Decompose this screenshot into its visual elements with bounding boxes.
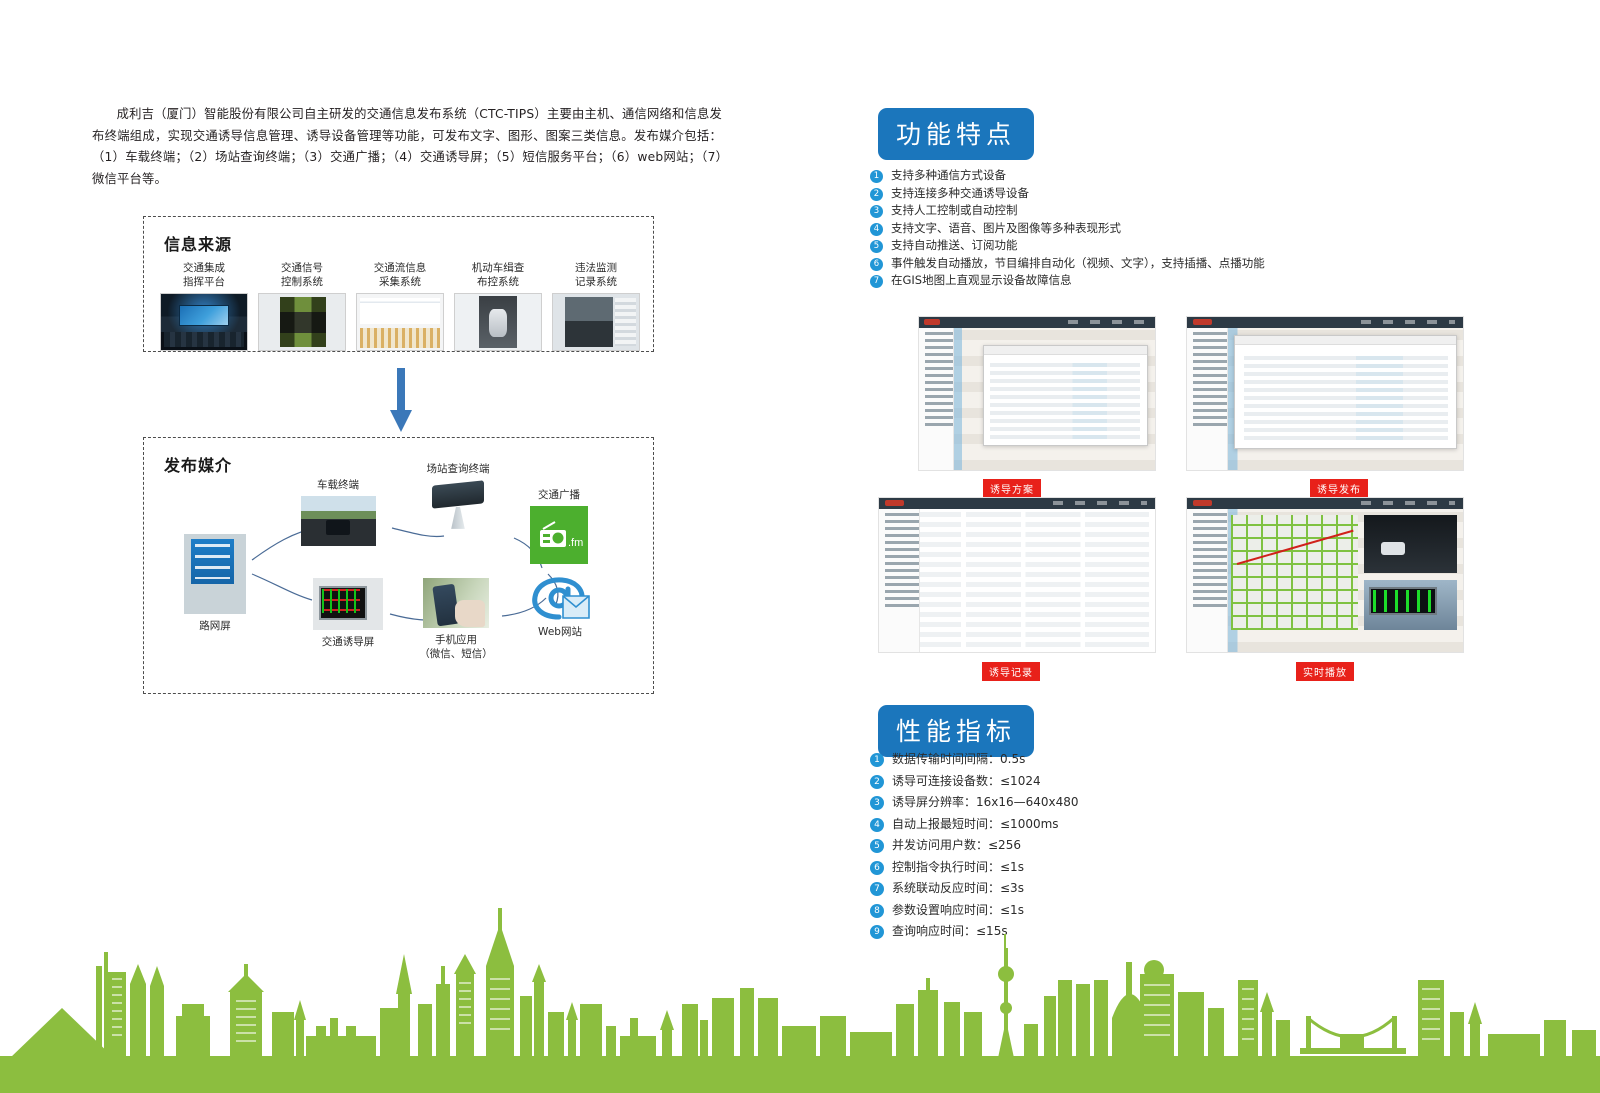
performance-item: 1 数据传输时间间隔：0.5s — [870, 751, 1290, 767]
guidance-plan-dialog[interactable] — [983, 345, 1148, 446]
vehicle-check-thumb — [454, 293, 542, 351]
live-video-feed — [1364, 515, 1458, 574]
intro-paragraph: 成利吉（厦门）智能股份有限公司自主研发的交通信息发布系统（CTC-TIPS）主要… — [92, 104, 722, 190]
violation-record-thumb — [552, 293, 640, 351]
media-node-traffic-radio: 交通广播 .fm — [512, 488, 606, 564]
screenshot-body — [879, 498, 1155, 652]
information-source-panel: 信息来源 交通集成 指挥平台 交通信号 控制系统 交通流信息 采集系统 机动车缉… — [143, 216, 654, 352]
bullet-1: 1 — [870, 170, 883, 183]
dialog-rows — [1244, 356, 1448, 441]
media-label: 车载终端 — [284, 478, 392, 492]
performance-text: 并发访问用户数：≤256 — [892, 837, 1021, 853]
media-node-road-network-screen: 路网屏 — [176, 534, 254, 633]
features-badge-label: 功能特点 — [878, 108, 1034, 160]
tree-panel — [1187, 328, 1228, 470]
city-skyline-illustration — [0, 908, 1600, 1093]
road-network-screen-image — [184, 534, 246, 614]
road-grid-map — [1231, 515, 1358, 631]
performance-text: 诱导可连接设备数：≤1024 — [892, 773, 1041, 789]
feature-item: 1 支持多种通信方式设备 — [870, 168, 1330, 183]
media-label: 路网屏 — [176, 619, 254, 633]
bullet-6: 6 — [870, 861, 884, 875]
bullet-4: 4 — [870, 223, 883, 236]
feature-item: 3 支持人工控制或自动控制 — [870, 203, 1330, 218]
performance-text: 数据传输时间间隔：0.5s — [892, 751, 1025, 767]
bullet-2: 2 — [870, 188, 883, 201]
performance-badge-label: 性能指标 — [878, 705, 1034, 757]
performance-text: 自动上报最短时间：≤1000ms — [892, 816, 1059, 832]
feature-item: 2 支持连接多种交通诱导设备 — [870, 186, 1330, 201]
performance-text: 系统联动反应时间：≤3s — [892, 880, 1024, 896]
screenshot-guidance-publish[interactable] — [1186, 316, 1464, 471]
bullet-5: 5 — [870, 839, 884, 853]
svg-text:.fm: .fm — [568, 537, 583, 549]
performance-text: 控制指令执行时间：≤1s — [892, 859, 1024, 875]
tree-panel — [1187, 509, 1228, 652]
bullet-3: 3 — [870, 205, 883, 218]
radio-fm-image: .fm — [530, 506, 588, 564]
screenshot-caption-3: 诱导记录 — [982, 662, 1040, 681]
bullet-2: 2 — [870, 775, 884, 789]
dialog-title-bar — [984, 346, 1147, 355]
screenshot-body — [1187, 317, 1463, 470]
media-label: 交通广播 — [512, 488, 606, 502]
bullet-7: 7 — [870, 882, 884, 896]
feature-item: 7 在GIS地图上直观显示设备故障信息 — [870, 273, 1330, 288]
source-item-vehicle-check: 机动车缉查 布控系统 — [452, 261, 544, 351]
feature-text: 支持连接多种交通诱导设备 — [891, 186, 1029, 201]
media-label: Web网站 — [512, 625, 608, 639]
at-mail-icon — [529, 576, 591, 622]
bullet-5: 5 — [870, 240, 883, 253]
feature-text: 支持人工控制或自动控制 — [891, 203, 1018, 218]
media-label: 交通诱导屏 — [296, 635, 400, 649]
feature-text: 支持自动推送、订阅功能 — [891, 238, 1018, 253]
guidance-screen-image — [313, 578, 383, 630]
guidance-board-photo — [1364, 580, 1458, 631]
screenshot-realtime-playback[interactable] — [1186, 497, 1464, 653]
media-node-mobile-app: 手机应用 （微信、短信） — [406, 578, 506, 661]
source-item-traffic-command: 交通集成 指挥平台 — [158, 261, 250, 351]
media-node-station-kiosk: 场站查询终端 — [400, 462, 516, 532]
source-item-violation-record: 违法监测 记录系统 — [550, 261, 642, 351]
media-label: 手机应用 （微信、短信） — [406, 633, 506, 661]
performance-item: 3 诱导屏分辨率：16x16—640x480 — [870, 794, 1290, 810]
mobile-app-image — [423, 578, 489, 628]
bullet-3: 3 — [870, 796, 884, 810]
screenshot-caption-2: 诱导发布 — [1310, 479, 1368, 498]
media-node-in-car-terminal: 车载终端 — [284, 478, 392, 546]
bullet-1: 1 — [870, 753, 884, 767]
source-label: 机动车缉查 布控系统 — [452, 261, 544, 289]
screenshot-guidance-record[interactable] — [878, 497, 1156, 653]
dialog-rows — [990, 363, 1140, 438]
publishing-media-panel: 发布媒介 路网屏 车载终端 场站查询终端 — [143, 437, 654, 694]
bullet-4: 4 — [870, 818, 884, 832]
web-at-mail-image — [529, 576, 591, 622]
media-label: 场站查询终端 — [400, 462, 516, 476]
traffic-flow-thumb — [356, 293, 444, 351]
performance-text: 诱导屏分辨率：16x16—640x480 — [892, 794, 1079, 810]
publishing-media-title: 发布媒介 — [164, 452, 232, 476]
screenshot-body — [919, 317, 1155, 470]
performance-item: 6 控制指令执行时间：≤1s — [870, 859, 1290, 875]
performance-item: 2 诱导可连接设备数：≤1024 — [870, 773, 1290, 789]
media-node-guidance-screen: 交通诱导屏 — [296, 578, 400, 649]
dialog-title-bar — [1235, 336, 1457, 345]
feature-item: 4 支持文字、语音、图片及图像等多种表现形式 — [870, 221, 1330, 236]
features-list: 1 支持多种通信方式设备 2 支持连接多种交通诱导设备 3 支持人工控制或自动控… — [870, 168, 1330, 291]
tree-panel — [919, 328, 954, 470]
tree-panel — [879, 509, 920, 652]
bullet-6: 6 — [870, 258, 883, 271]
feature-item: 5 支持自动推送、订阅功能 — [870, 238, 1330, 253]
performance-item: 7 系统联动反应时间：≤3s — [870, 880, 1290, 896]
feature-text: 支持多种通信方式设备 — [891, 168, 1006, 183]
record-table[interactable] — [920, 512, 1149, 646]
source-item-signal-control: 交通信号 控制系统 — [256, 261, 348, 351]
bullet-7: 7 — [870, 275, 883, 288]
signal-control-thumb — [258, 293, 346, 351]
app-topbar — [1187, 317, 1463, 328]
screenshot-caption-4: 实时播放 — [1296, 662, 1354, 681]
performance-item: 5 并发访问用户数：≤256 — [870, 837, 1290, 853]
app-topbar — [919, 317, 1155, 328]
screenshot-caption-1: 诱导方案 — [983, 479, 1041, 498]
media-node-web-site: Web网站 — [512, 576, 608, 639]
down-arrow-icon — [388, 368, 414, 434]
feature-text: 事件触发自动播放，节目编排自动化（视频、文字），支持插播、点播功能 — [891, 256, 1265, 271]
feature-text: 支持文字、语音、图片及图像等多种表现形式 — [891, 221, 1121, 236]
feature-text: 在GIS地图上直观显示设备故障信息 — [891, 273, 1072, 288]
performance-section-header: 性能指标 — [878, 705, 1034, 757]
source-label: 交通集成 指挥平台 — [158, 261, 250, 289]
station-kiosk-image — [424, 480, 492, 532]
performance-item: 4 自动上报最短时间：≤1000ms — [870, 816, 1290, 832]
feature-item: 6 事件触发自动播放，节目编排自动化（视频、文字），支持插播、点播功能 — [870, 256, 1330, 271]
radio-fm-icon: .fm — [530, 506, 588, 564]
source-item-traffic-flow: 交通流信息 采集系统 — [354, 261, 446, 351]
features-section-header: 功能特点 — [878, 108, 1034, 160]
source-label: 交通流信息 采集系统 — [354, 261, 446, 289]
app-topbar — [879, 498, 1155, 509]
information-source-title: 信息来源 — [164, 231, 232, 255]
app-topbar — [1187, 498, 1463, 509]
publish-form-dialog[interactable] — [1234, 335, 1458, 448]
control-center-thumb — [160, 293, 248, 351]
screenshot-body — [1187, 498, 1463, 652]
source-label: 交通信号 控制系统 — [256, 261, 348, 289]
in-car-terminal-image — [301, 496, 376, 546]
source-label: 违法监测 记录系统 — [550, 261, 642, 289]
screenshot-guidance-plan[interactable] — [918, 316, 1156, 471]
